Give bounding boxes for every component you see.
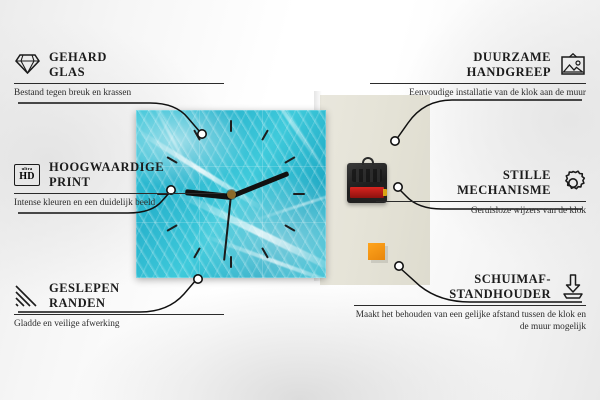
feature-description: Maakt het behouden van een gelijke afsta… [354, 310, 586, 333]
feature-hoogwaardige-print: ultra HD HOOGWAARDIGEPRINT Intense kleur… [14, 160, 224, 210]
clock-tick [284, 224, 295, 232]
divider [14, 83, 224, 84]
clock-minute-hand [230, 171, 289, 199]
clock-tick [230, 256, 232, 268]
divider [14, 193, 224, 194]
infographic-canvas: GEHARDGLAS Bestand tegen breuk en krasse… [0, 0, 600, 400]
feature-title: STILLEMECHANISME [457, 168, 551, 197]
feature-stille-mechanisme: STILLEMECHANISME Geruisloze wijzers van … [376, 168, 586, 218]
feature-description: Intense kleuren en een duidelijk beeld [14, 198, 224, 210]
clock-second-hand [223, 195, 232, 261]
arrow-down-pad-icon [560, 274, 586, 300]
feature-description: Gladde en veilige afwerking [14, 319, 224, 331]
feature-gehard-glas: GEHARDGLAS Bestand tegen breuk en krasse… [14, 50, 224, 100]
mechanism-hanger [362, 157, 374, 165]
ultra-hd-icon: ultra HD [14, 162, 40, 188]
divider [376, 201, 586, 202]
feature-title: HOOGWAARDIGEPRINT [49, 160, 164, 189]
feature-title: DUURZAMEHANDGREEP [467, 50, 551, 79]
divider [370, 83, 586, 84]
clock-tick [166, 224, 177, 232]
feature-geslepen-randen: GESLEPENRANDEN Gladde en veilige afwerki… [14, 281, 224, 331]
feature-title: SCHUIMAF-STANDHOUDER [449, 272, 551, 301]
picture-frame-icon [560, 52, 586, 78]
divider [354, 305, 586, 306]
clock-center-pin [227, 190, 236, 199]
clock-tick [284, 156, 295, 164]
feature-description: Geruisloze wijzers van de klok [376, 206, 586, 218]
gear-icon [560, 170, 586, 196]
foam-spacer-pad [368, 243, 385, 260]
diagonal-lines-icon [14, 283, 40, 309]
feature-duurzame-handgreep: DUURZAMEHANDGREEP Eenvoudige installatie… [370, 50, 586, 100]
feature-title: GEHARDGLAS [49, 50, 107, 79]
feature-schuimafstandhouder: SCHUIMAF-STANDHOUDER Maakt het behouden … [354, 272, 586, 333]
feature-description: Eenvoudige installatie van de klok aan d… [370, 88, 586, 100]
diamond-icon [14, 52, 40, 78]
clock-tick [293, 193, 305, 195]
clock-tick [230, 120, 232, 132]
feature-description: Bestand tegen breuk en krassen [14, 88, 224, 100]
feature-title: GESLEPENRANDEN [49, 281, 120, 310]
divider [14, 314, 224, 315]
